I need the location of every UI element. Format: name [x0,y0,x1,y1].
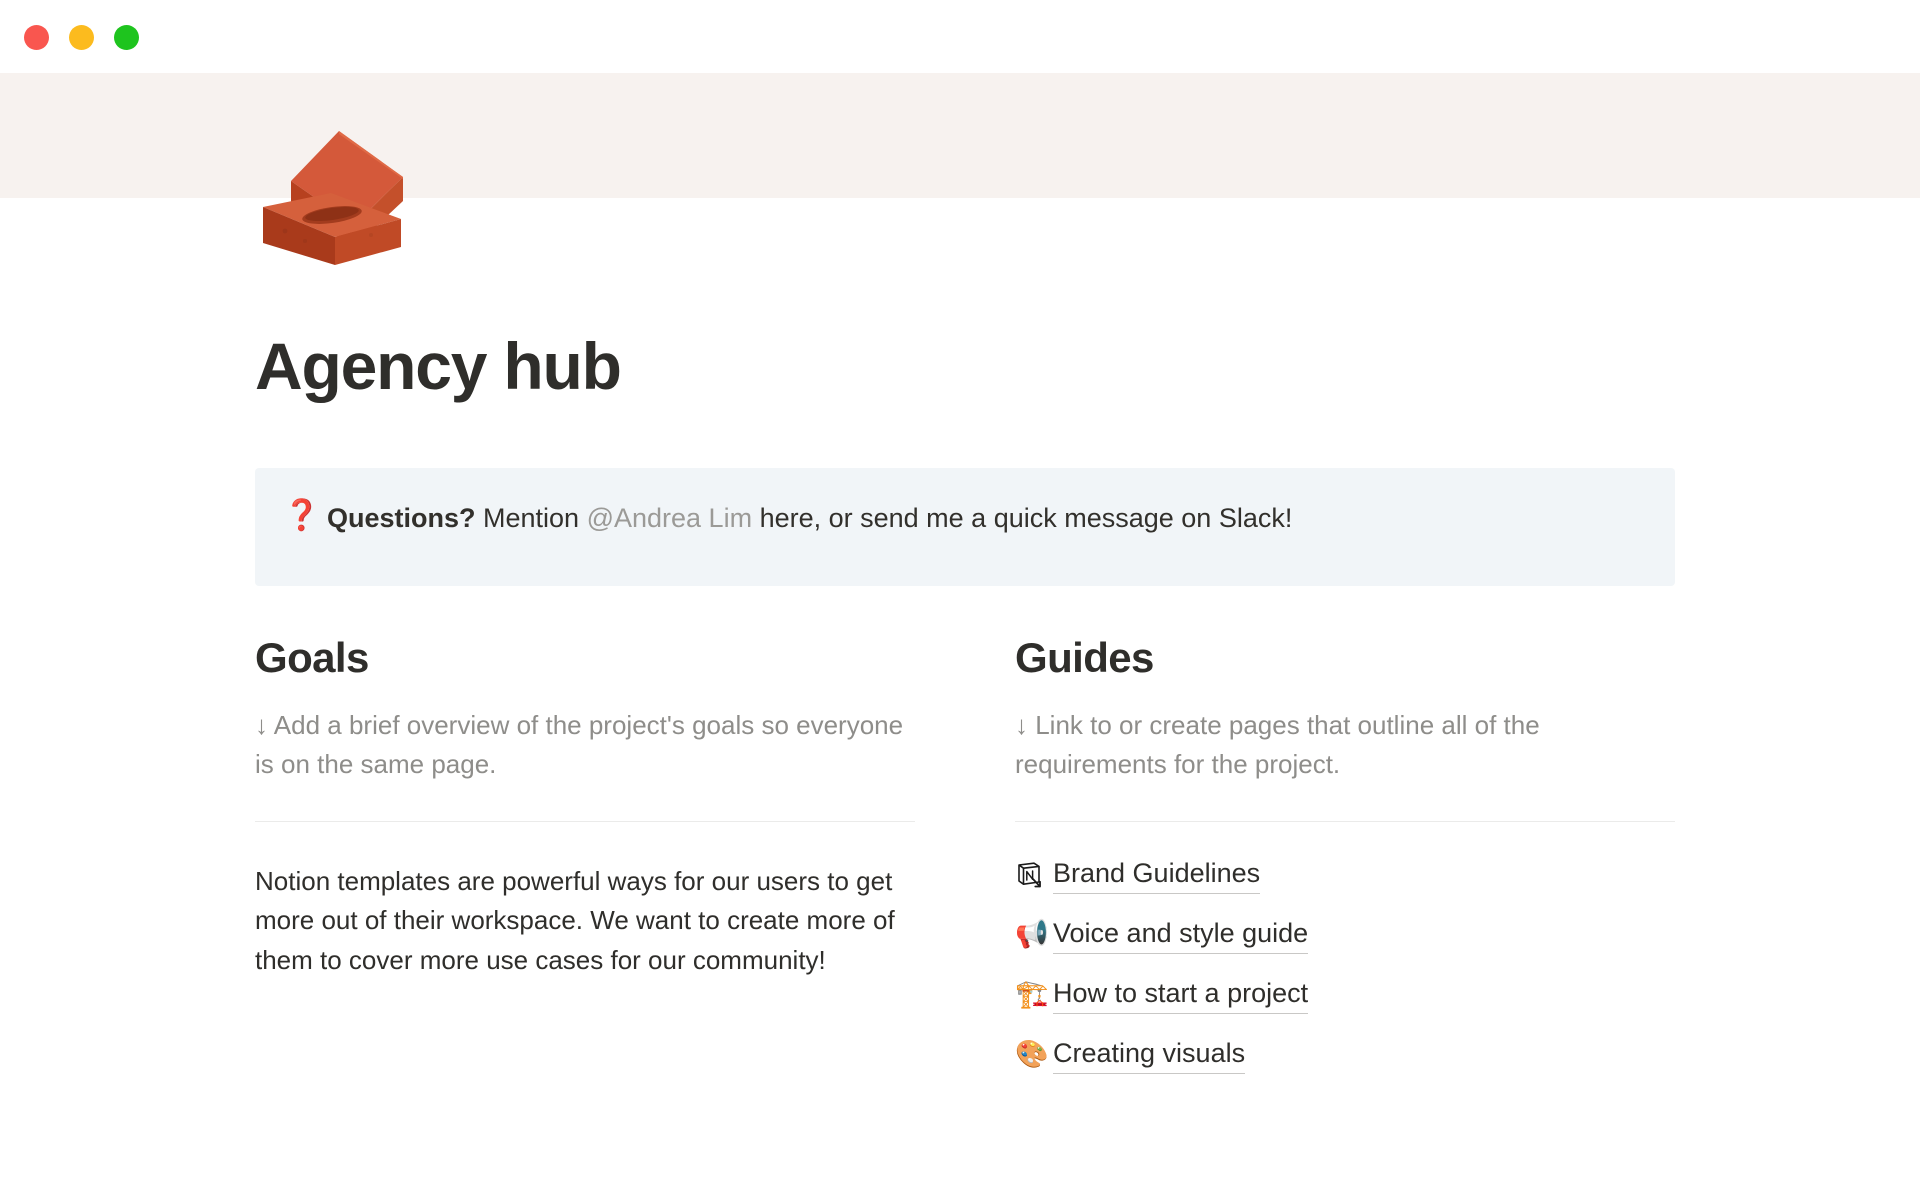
callout-bold-text: Questions? [327,503,476,533]
page-content: Agency hub ❓ Questions? Mention @Andrea … [255,330,1675,1096]
guides-divider [1015,821,1675,822]
artist-palette-emoji-icon: 🎨 [1015,1041,1053,1068]
goals-column: Goals ↓ Add a brief overview of the proj… [255,634,915,1096]
two-column-layout: Goals ↓ Add a brief overview of the proj… [255,634,1675,1096]
goals-heading[interactable]: Goals [255,634,915,682]
guide-link-creating-visuals[interactable]: 🎨 Creating visuals [1015,1036,1675,1074]
goals-divider [255,821,915,822]
questions-callout[interactable]: ❓ Questions? Mention @Andrea Lim here, o… [255,468,1675,586]
guide-link-brand-guidelines[interactable]: Brand Guidelines [1015,856,1675,894]
guides-link-list: Brand Guidelines 📢 Voice and style guide… [1015,856,1675,1074]
goals-caption: ↓ Add a brief overview of the project's … [255,706,915,785]
guides-caption: ↓ Link to or create pages that outline a… [1015,706,1675,785]
guide-link-label[interactable]: Brand Guidelines [1053,856,1260,894]
question-mark-icon: ❓ [283,494,317,531]
callout-text-after-mention: here, or send me a quick message on Slac… [752,503,1292,533]
brick-emoji-icon[interactable] [253,115,409,275]
user-mention[interactable]: @Andrea Lim [587,503,752,533]
guide-link-label[interactable]: Creating visuals [1053,1036,1245,1074]
construction-crane-emoji-icon: 🏗️ [1015,981,1053,1008]
megaphone-emoji-icon: 📢 [1015,921,1053,948]
guide-link-label[interactable]: Voice and style guide [1053,916,1308,954]
guides-heading[interactable]: Guides [1015,634,1675,682]
page-title[interactable]: Agency hub [255,330,1675,403]
guide-link-voice-and-style-guide[interactable]: 📢 Voice and style guide [1015,916,1675,954]
callout-text: Questions? Mention @Andrea Lim here, or … [317,494,1292,539]
guides-column: Guides ↓ Link to or create pages that ou… [1015,634,1675,1096]
guide-link-label[interactable]: How to start a project [1053,976,1308,1014]
goals-body-text[interactable]: Notion templates are powerful ways for o… [255,862,915,981]
callout-text-before-mention: Mention [476,503,587,533]
guide-link-how-to-start-a-project[interactable]: 🏗️ How to start a project [1015,976,1675,1014]
notion-page-link-icon [1015,861,1053,889]
